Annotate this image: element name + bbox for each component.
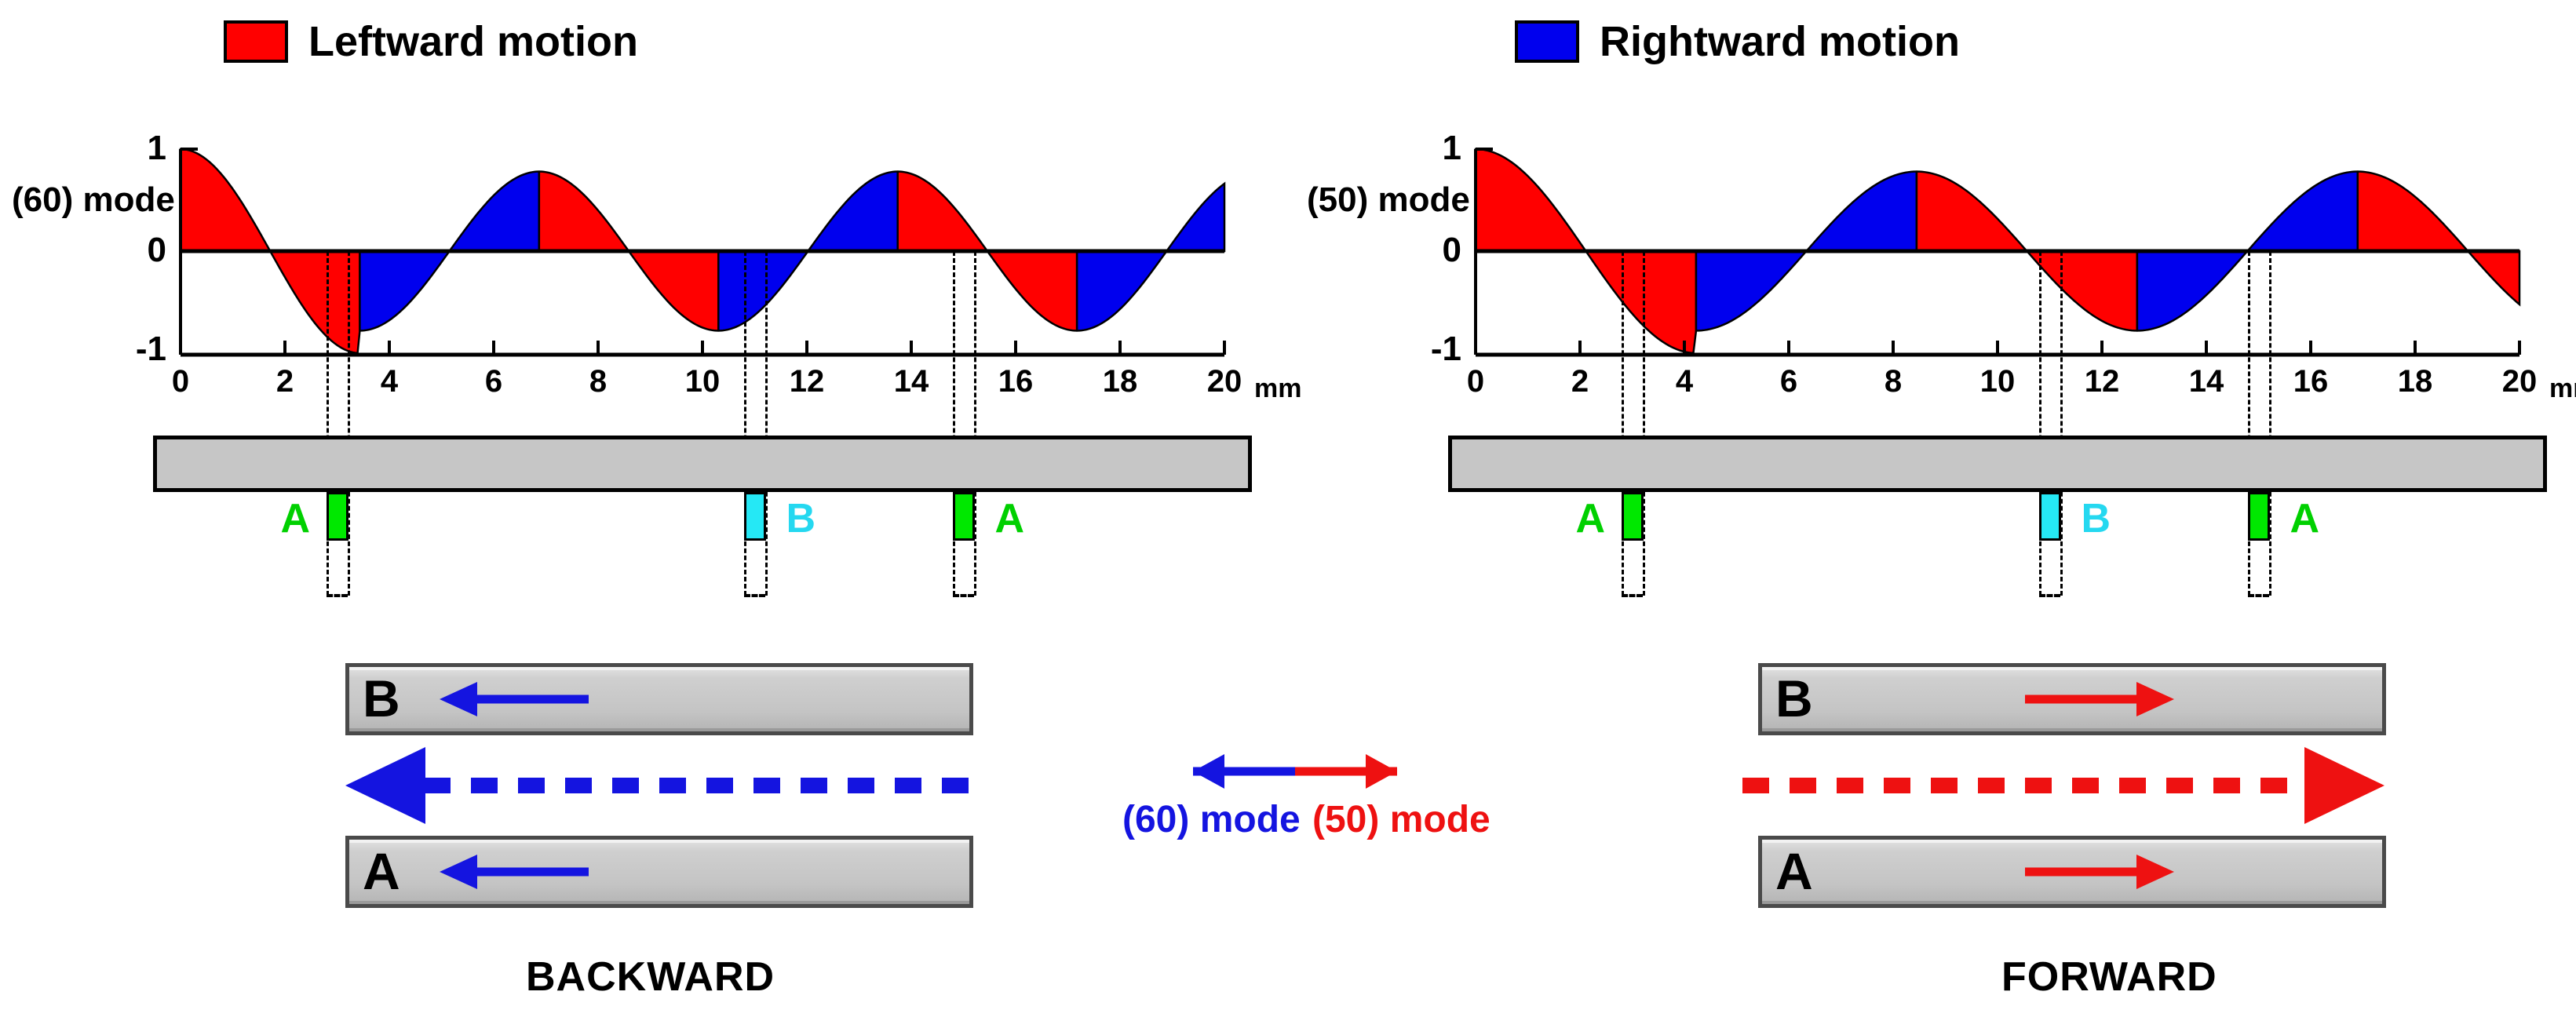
x-tick-label: 4 bbox=[1649, 364, 1720, 399]
wave-segment bbox=[1166, 184, 1224, 251]
waveform-plot-left bbox=[181, 149, 1229, 358]
guide-line-foot bbox=[744, 594, 766, 597]
y-tick-left-1: 0 bbox=[111, 231, 166, 270]
x-tick-label: 8 bbox=[563, 364, 633, 399]
block-arrow-left-icon bbox=[432, 850, 612, 894]
wave-segment bbox=[2137, 251, 2247, 330]
contact-pad-a-0 bbox=[327, 492, 348, 541]
centre-mode-legend: (60) mode (50) mode bbox=[1130, 749, 1460, 844]
guide-line bbox=[1643, 251, 1645, 596]
guide-line-foot bbox=[953, 594, 975, 597]
contact-pad-a-0 bbox=[1622, 492, 1644, 541]
wave-segment bbox=[1585, 251, 1695, 353]
wave-segment bbox=[2247, 172, 2357, 251]
wave-segment bbox=[1806, 172, 1916, 251]
legend-item-leftward: Leftward motion bbox=[224, 17, 638, 66]
block-label-a-left: A bbox=[363, 845, 400, 897]
guide-line bbox=[348, 251, 350, 596]
pad-label-a-2: A bbox=[995, 495, 1025, 542]
guide-line bbox=[744, 251, 746, 596]
centre-legend-right-label: (50) mode bbox=[1312, 798, 1491, 841]
block-arrow-right-icon bbox=[2017, 850, 2198, 894]
x-tick-label: 10 bbox=[1962, 364, 2033, 399]
wave-segment bbox=[539, 172, 629, 251]
wave-segment bbox=[629, 251, 718, 330]
y-tick-left-0: 1 bbox=[111, 129, 166, 168]
wave-segment bbox=[1476, 149, 1585, 251]
wave-segment bbox=[450, 172, 539, 251]
net-motion-arrow-right-icon bbox=[1742, 742, 2402, 829]
waveform-plot-right bbox=[1476, 149, 2524, 358]
legend-item-rightward: Rightward motion bbox=[1515, 17, 1960, 66]
contact-pad-b-1 bbox=[744, 492, 766, 541]
caption-right: FORWARD bbox=[2001, 953, 2217, 1001]
stator-track-right bbox=[1448, 436, 2547, 492]
wave-segment bbox=[359, 251, 449, 330]
y-tick-right-2: -1 bbox=[1407, 330, 1461, 369]
contact-pad-b-1 bbox=[2039, 492, 2061, 541]
centre-legend-left-label: (60) mode bbox=[1122, 798, 1301, 841]
guide-line-foot bbox=[2248, 594, 2270, 597]
pad-label-a-2: A bbox=[2290, 495, 2320, 542]
wave-segment bbox=[1917, 172, 2027, 251]
contact-pad-a-2 bbox=[2248, 492, 2270, 541]
wave-segment bbox=[2468, 251, 2519, 304]
y-tick-right-1: 0 bbox=[1407, 231, 1461, 270]
block-arrow-right-icon bbox=[2017, 677, 2198, 721]
wave-segment bbox=[808, 172, 897, 251]
x-tick-label: 0 bbox=[145, 364, 216, 399]
x-tick-label: 16 bbox=[2275, 364, 2346, 399]
guide-line bbox=[1622, 251, 1624, 596]
legend-label-leftward: Leftward motion bbox=[308, 17, 638, 66]
x-tick-label: 14 bbox=[2171, 364, 2242, 399]
caption-left: BACKWARD bbox=[526, 953, 775, 1001]
x-tick-label: 2 bbox=[1545, 364, 1615, 399]
x-tick-label: 2 bbox=[250, 364, 320, 399]
wave-segment bbox=[718, 251, 808, 330]
block-label-b-left: B bbox=[363, 673, 400, 724]
pad-label-b-1: B bbox=[2082, 495, 2111, 542]
x-tick-label: 20 bbox=[1189, 364, 1260, 399]
x-tick-label: 14 bbox=[876, 364, 947, 399]
wave-segment bbox=[270, 251, 359, 353]
y-tick-left-2: -1 bbox=[111, 330, 166, 369]
guide-line bbox=[974, 251, 976, 596]
mode-label-left: (60) mode bbox=[12, 180, 175, 220]
wave-segment bbox=[2027, 251, 2136, 330]
guide-line-foot bbox=[327, 594, 348, 597]
guide-line bbox=[2060, 251, 2063, 596]
guide-line bbox=[953, 251, 955, 596]
x-tick-label: 6 bbox=[1753, 364, 1824, 399]
wave-segment bbox=[1077, 251, 1166, 330]
guide-line bbox=[327, 251, 329, 596]
x-axis-unit: mm bbox=[1254, 374, 1301, 404]
y-tick-right-0: 1 bbox=[1407, 129, 1461, 168]
wave-segment bbox=[987, 251, 1077, 330]
legend-swatch-rightward bbox=[1515, 20, 1579, 63]
contact-pad-a-2 bbox=[953, 492, 975, 541]
stator-track-left bbox=[153, 436, 1252, 492]
x-tick-label: 0 bbox=[1440, 364, 1511, 399]
x-tick-label: 18 bbox=[2380, 364, 2450, 399]
block-label-a-right: A bbox=[1775, 845, 1813, 897]
legend-swatch-leftward bbox=[224, 20, 288, 63]
guide-line bbox=[2269, 251, 2271, 596]
guide-line bbox=[765, 251, 768, 596]
guide-line-foot bbox=[2039, 594, 2061, 597]
x-tick-label: 6 bbox=[458, 364, 529, 399]
x-axis-unit: mm bbox=[2549, 374, 2576, 404]
x-tick-label: 18 bbox=[1085, 364, 1155, 399]
net-motion-arrow-left-icon bbox=[330, 742, 989, 829]
guide-line bbox=[2248, 251, 2250, 596]
legend-label-rightward: Rightward motion bbox=[1600, 17, 1960, 66]
guide-line-foot bbox=[1622, 594, 1644, 597]
x-tick-label: 12 bbox=[772, 364, 842, 399]
pad-label-a-0: A bbox=[1576, 495, 1606, 542]
mode-label-right: (50) mode bbox=[1307, 180, 1470, 220]
block-arrow-left-icon bbox=[432, 677, 612, 721]
wave-segment bbox=[898, 172, 987, 251]
wave-segment bbox=[2358, 172, 2468, 251]
guide-line bbox=[2039, 251, 2041, 596]
x-tick-label: 4 bbox=[354, 364, 425, 399]
x-tick-label: 20 bbox=[2484, 364, 2555, 399]
x-tick-label: 16 bbox=[980, 364, 1051, 399]
x-tick-label: 10 bbox=[667, 364, 738, 399]
x-tick-label: 8 bbox=[1858, 364, 1928, 399]
pad-label-a-0: A bbox=[281, 495, 311, 542]
centre-double-arrow-icon bbox=[1130, 749, 1460, 793]
wave-segment bbox=[1696, 251, 1806, 330]
block-label-b-right: B bbox=[1775, 673, 1813, 724]
wave-segment bbox=[181, 149, 270, 251]
pad-label-b-1: B bbox=[786, 495, 816, 542]
x-tick-label: 12 bbox=[2067, 364, 2137, 399]
